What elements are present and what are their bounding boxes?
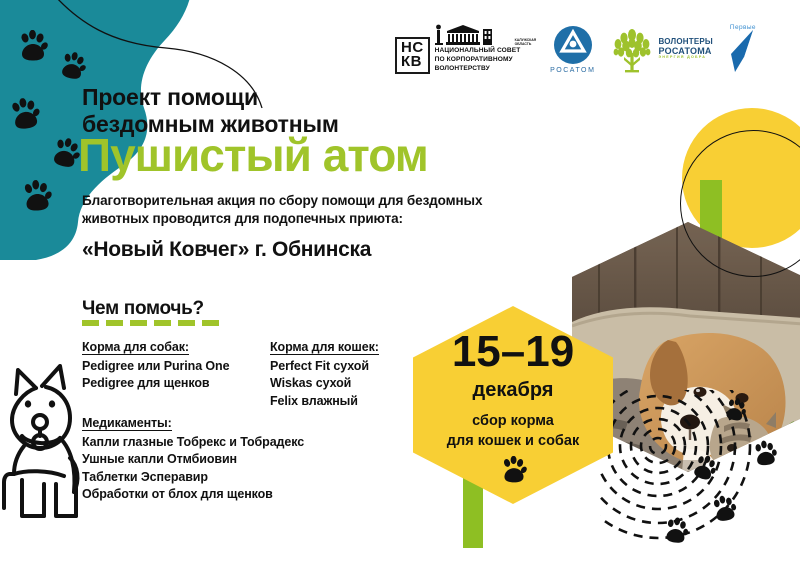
dash-mark: [106, 320, 123, 326]
nskv-region-label: КАЛУЖСКАЯОБЛАСТЬ: [515, 39, 536, 47]
list-item: Wiskas сухой: [270, 375, 379, 392]
subtext-line1: Благотворительная акция по сбору помощи …: [82, 192, 582, 210]
paw-print-icon: [21, 179, 53, 213]
dashed-divider: [82, 320, 219, 326]
event-caption-line2: для кошек и собак: [413, 432, 613, 452]
list-item: Таблетки Эсперавир: [82, 469, 304, 486]
paw-print-icon: [18, 30, 48, 62]
dash-mark: [82, 320, 99, 326]
arrow-icon: [727, 30, 759, 74]
dog-food-column: Корма для собак: Pedigree или Purina One…: [82, 338, 229, 393]
dash-mark: [178, 320, 195, 326]
list-item: Perfect Fit сухой: [270, 358, 379, 375]
list-item: Pedigree или Purina One: [82, 358, 229, 375]
paw-print-icon: [8, 96, 42, 132]
nskv-title-line1: НАЦИОНАЛЬНЫЙ СОВЕТ: [435, 47, 536, 56]
list-item: Обработки от блох для щенков: [82, 486, 304, 503]
list-item: Felix влажный: [270, 393, 379, 410]
dash-mark: [130, 320, 147, 326]
fingerprint-decoration: [600, 390, 800, 565]
logo-pervye: Первые: [727, 24, 759, 74]
nskv-title-line3: ВОЛОНТЕРСТВУ: [435, 65, 536, 74]
event-caption-line1: сбор корма: [413, 412, 613, 432]
dates-hexagon-content: 15–19 декабря сбор корма для кошек и соб…: [413, 306, 613, 504]
logo-volunteers-rosatom: ВОЛОНТЕРЫ РОСАТОМА ЭНЕРГИЯ ДОБРА: [610, 25, 713, 73]
nskv-title-line2: ПО КОРПОРАТИВНОМУ: [435, 56, 536, 65]
shelter-name: «Новый Ковчег» г. Обнинска: [82, 238, 371, 262]
list-item: Ушные капли Отмбиовин: [82, 451, 304, 468]
logo-rosatom: РОСАТОМ: [550, 25, 595, 74]
list-item: Pedigree для щенков: [82, 375, 229, 392]
volunteers-label-line3: ЭНЕРГИЯ ДОБРА: [659, 56, 713, 60]
subtext-line2: животных проводится для подопечных приют…: [82, 210, 582, 228]
poster-title: Пушистый атом: [78, 132, 428, 178]
nskv-monogram: НС КВ: [395, 37, 430, 74]
medicines-column: Медикаменты: Капли глазные Тобрекс и Тоб…: [82, 414, 304, 503]
logo-nskv: НС КВ: [395, 24, 536, 73]
cat-food-header: Корма для кошек:: [270, 340, 379, 355]
rosatom-icon: [553, 25, 593, 65]
headline-line1: Проект помощи: [82, 84, 339, 111]
medicines-header: Медикаменты:: [82, 416, 172, 431]
subtext-block: Благотворительная акция по сбору помощи …: [82, 192, 582, 228]
poster-canvas: НС КВ: [0, 0, 800, 565]
dash-mark: [202, 320, 219, 326]
building-icon: [435, 24, 511, 46]
nskv-monogram-line2: КВ: [401, 55, 424, 69]
rosatom-label: РОСАТОМ: [550, 67, 595, 74]
partner-logos: НС КВ: [395, 14, 790, 84]
dash-mark: [154, 320, 171, 326]
cat-food-column: Корма для кошек: Perfect Fit сухой Wiska…: [270, 338, 379, 410]
event-month: декабря: [413, 380, 613, 400]
paw-print-icon: [501, 456, 527, 484]
list-item: Капли глазные Тобрекс и Тобрадекс: [82, 434, 304, 451]
tree-icon: [610, 25, 654, 73]
help-question: Чем помочь?: [82, 298, 204, 320]
dog-food-header: Корма для собак:: [82, 340, 189, 355]
event-dates: 15–19: [413, 330, 613, 374]
